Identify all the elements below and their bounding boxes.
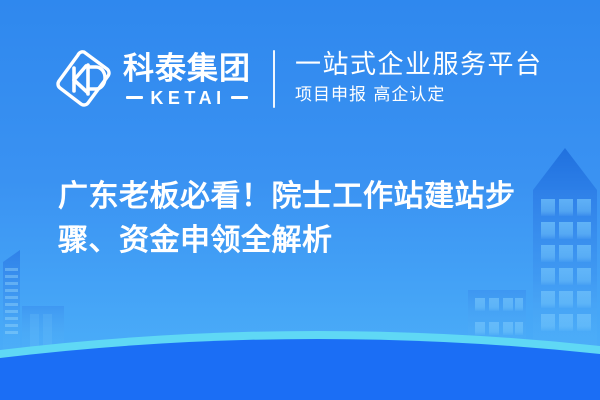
bottom-wave xyxy=(0,320,600,400)
tagline-secondary: 项目申报 高企认定 xyxy=(295,84,543,106)
brand-name-cn: 科泰集团 xyxy=(123,53,251,86)
promo-banner: 科泰集团 KETAI 一站式企业服务平台 项目申报 高企认定 广东老板必看！院士… xyxy=(0,0,600,400)
left-low-building xyxy=(22,306,64,352)
wordmark-dash-right xyxy=(231,96,248,99)
brand-name-en: KETAI xyxy=(148,89,225,107)
tagline-primary: 一站式企业服务平台 xyxy=(295,50,543,81)
right-low-building xyxy=(468,290,526,352)
page-title: 广东老板必看！院士工作站建站步骤、资金申领全解析 xyxy=(58,175,554,264)
banner-header: 科泰集团 KETAI 一站式企业服务平台 项目申报 高企认定 xyxy=(55,40,555,118)
brand-tagline: 一站式企业服务平台 项目申报 高企认定 xyxy=(295,50,543,109)
header-divider xyxy=(273,50,275,108)
brand-name-en-row: KETAI xyxy=(126,89,247,107)
brand-wordmark: 科泰集团 KETAI xyxy=(123,51,251,107)
left-striped-tower xyxy=(3,250,20,352)
wordmark-dash-left xyxy=(126,96,143,99)
ketai-kt-monogram-logo-icon xyxy=(55,48,113,110)
brand-logo[interactable]: 科泰集团 KETAI xyxy=(55,48,251,110)
